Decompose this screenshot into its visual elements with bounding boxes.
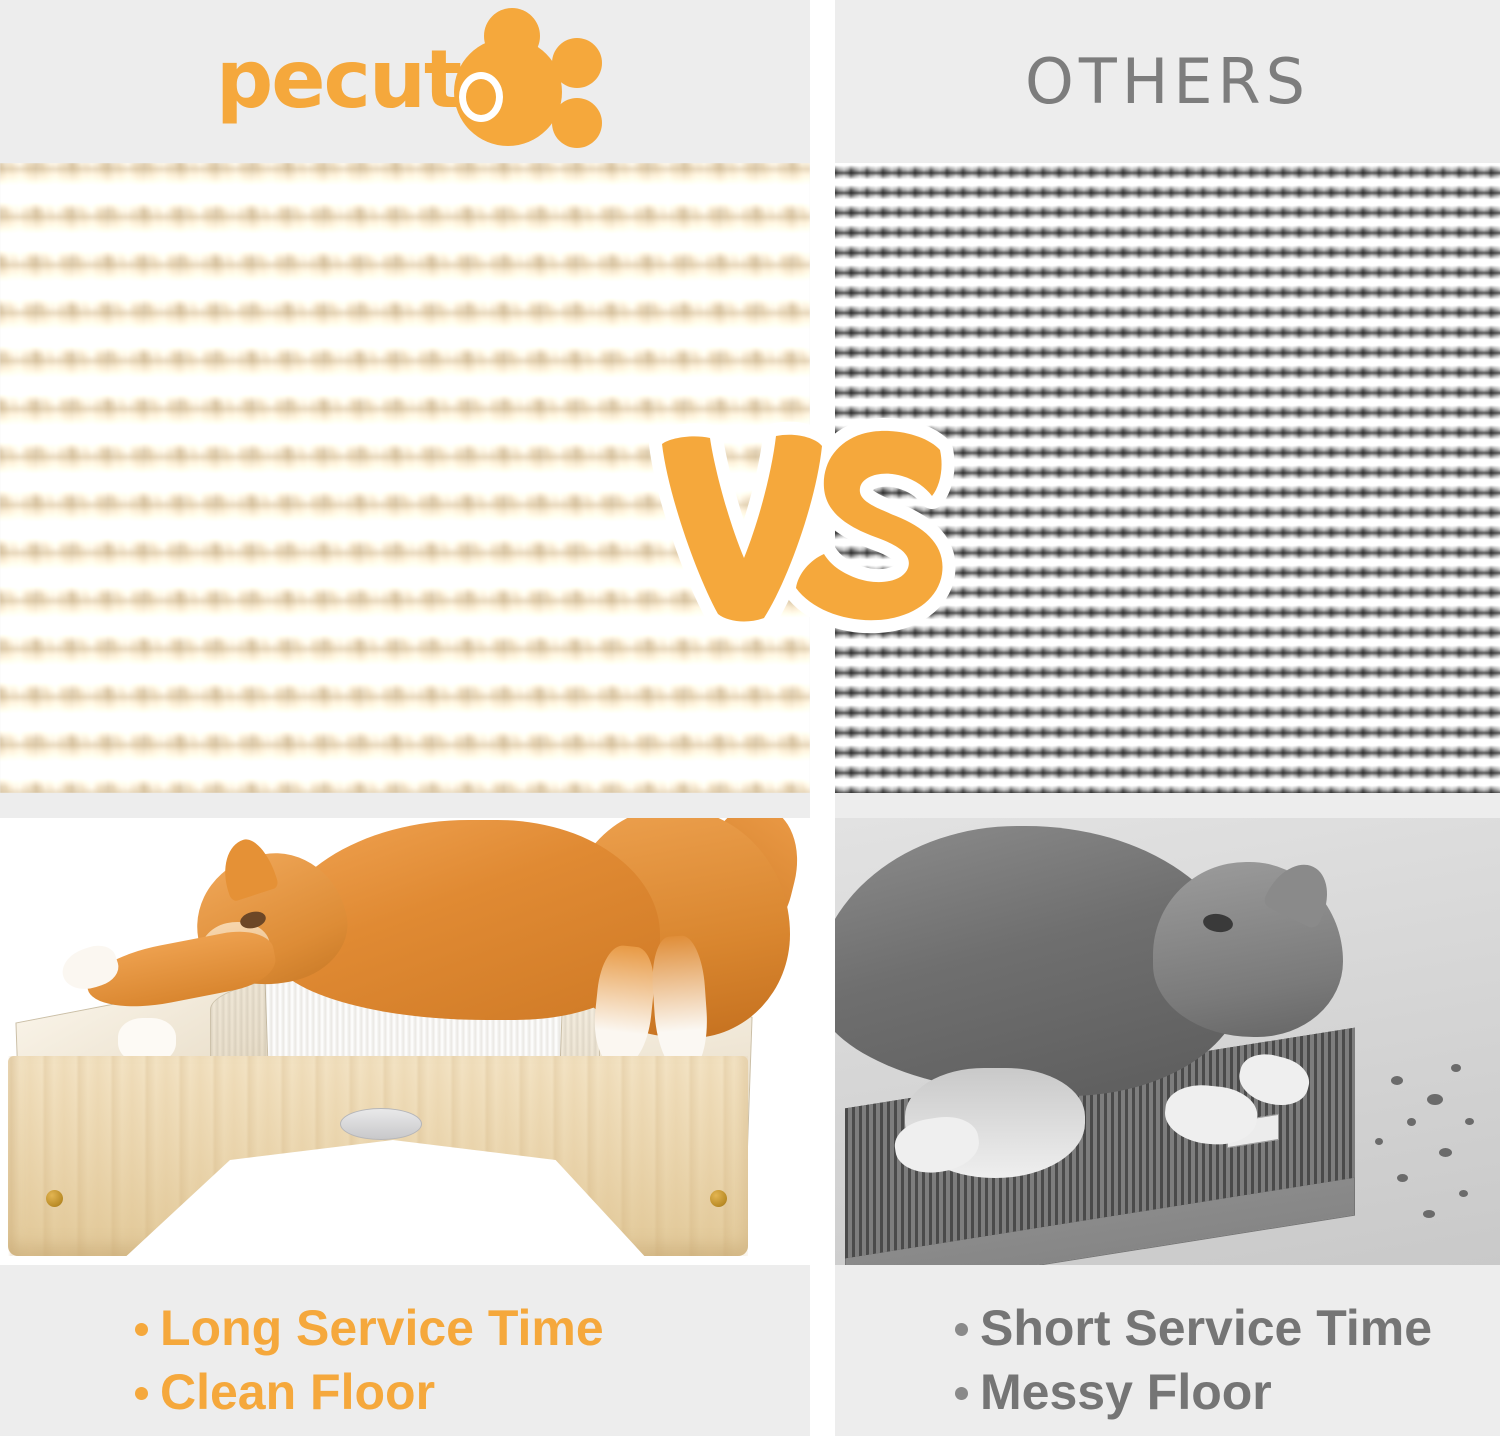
pecute-column: pecute — [0, 0, 810, 1436]
cardboard-debris — [1391, 1076, 1403, 1085]
others-product-photo — [835, 818, 1500, 1265]
grayscale-photo — [835, 818, 1500, 1265]
benefit-label: Long Service Time — [160, 1296, 604, 1360]
bullet-icon — [955, 1387, 968, 1400]
column-divider — [810, 0, 835, 1436]
others-drawbacks: Short Service Time Messy Floor — [835, 1265, 1500, 1436]
bullet-icon — [135, 1387, 148, 1400]
corrugated-pattern — [835, 163, 1500, 793]
cardboard-debris — [1407, 1118, 1416, 1126]
bullet-icon — [955, 1323, 968, 1336]
others-column: OTHERS — [835, 0, 1500, 1436]
screw-left — [46, 1190, 63, 1207]
paw-print-icon-toe1 — [484, 8, 540, 64]
cardboard-debris — [1375, 1138, 1383, 1145]
cardboard-debris — [1465, 1118, 1474, 1125]
others-title: OTHERS — [1025, 45, 1310, 118]
paw-print-icon-toe3 — [552, 98, 602, 148]
drawback-label: Short Service Time — [980, 1296, 1432, 1360]
drawback-label: Messy Floor — [980, 1360, 1272, 1424]
brand-metal-badge — [340, 1108, 422, 1140]
drawback-item: Short Service Time — [835, 1296, 1500, 1360]
cardboard-debris — [1427, 1094, 1443, 1105]
drawback-item: Messy Floor — [835, 1360, 1500, 1424]
cardboard-debris — [1439, 1148, 1452, 1157]
sisal-texture-panel — [0, 163, 810, 793]
cardboard-texture-panel — [835, 163, 1500, 793]
screw-right — [710, 1190, 727, 1207]
cardboard-debris — [1397, 1174, 1408, 1182]
benefit-label: Clean Floor — [160, 1360, 435, 1424]
pecute-benefits: Long Service Time Clean Floor — [0, 1265, 810, 1436]
benefit-item: Clean Floor — [0, 1360, 810, 1424]
cardboard-debris — [1451, 1064, 1461, 1072]
sisal-weave-pattern — [0, 163, 810, 793]
bullet-icon — [135, 1323, 148, 1336]
pecute-logo: pecute — [216, 12, 606, 152]
right-gap-band — [835, 793, 1500, 818]
logo-e-counter — [459, 72, 503, 122]
paw-print-icon-toe2 — [552, 38, 602, 88]
benefit-item: Long Service Time — [0, 1296, 810, 1360]
cardboard-debris — [1459, 1190, 1468, 1197]
others-header: OTHERS — [835, 0, 1500, 163]
pecute-product-photo — [0, 818, 810, 1265]
cardboard-debris — [1423, 1210, 1435, 1218]
wooden-scratcher — [0, 818, 810, 1265]
scratcher-wood-grain — [8, 1056, 748, 1256]
left-gap-band — [0, 793, 810, 818]
pecute-header: pecute — [0, 0, 810, 163]
comparison-board: pecute — [0, 0, 1500, 1436]
